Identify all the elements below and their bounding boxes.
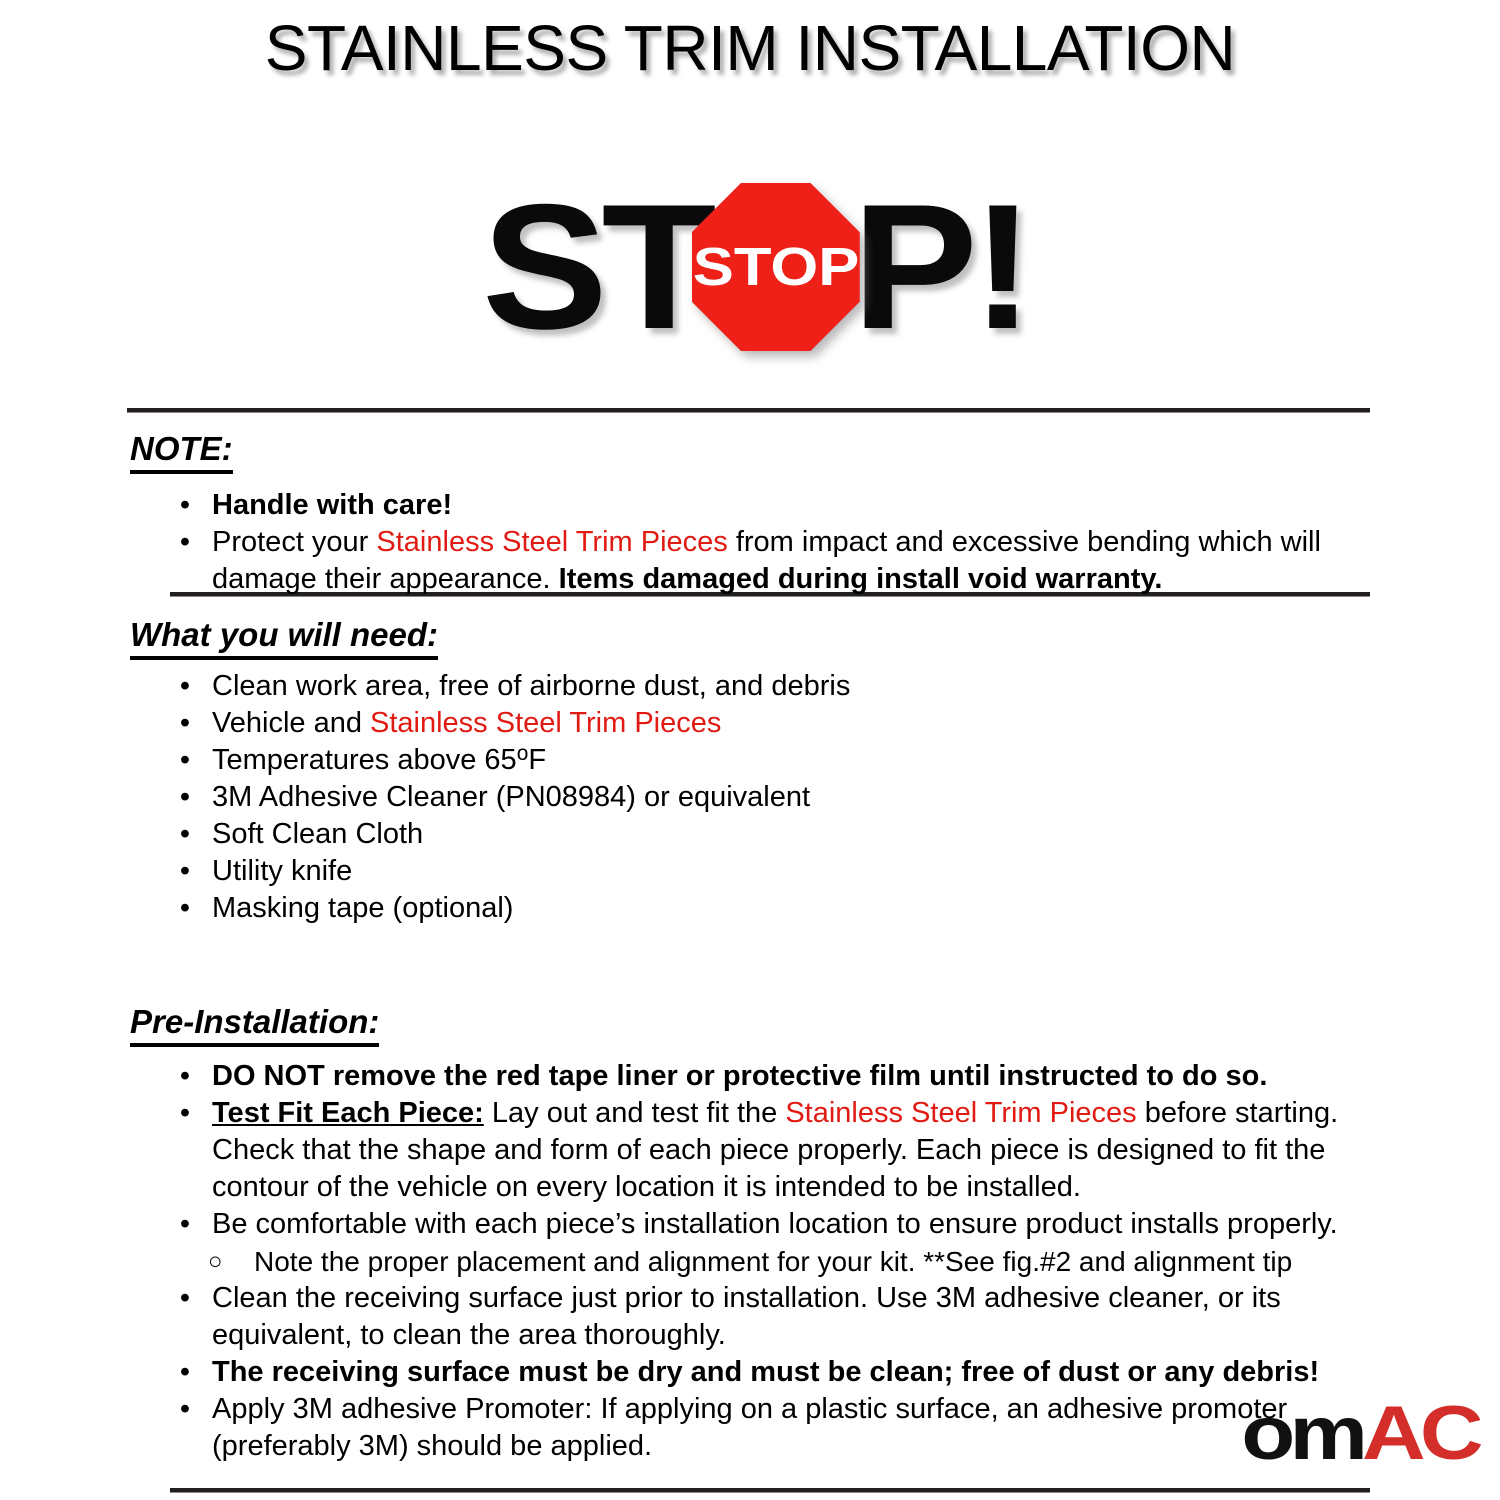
preinstall-list: •DO NOT remove the red tape liner or pro…	[170, 1058, 1370, 1465]
divider-top	[127, 408, 1370, 413]
omac-logo: omAC	[1242, 1396, 1478, 1472]
list-item: •3M Adhesive Cleaner (PN08984) or equiva…	[170, 779, 1370, 816]
divider-bottom	[170, 1488, 1370, 1493]
text-run: 3M Adhesive Cleaner (PN08984) or equival…	[212, 781, 810, 813]
stop-logo: ST STOP P!	[0, 172, 1500, 362]
bullet-icon: •	[178, 1095, 192, 1132]
bold-text: The receiving surface must be dry and mu…	[212, 1356, 1319, 1388]
list-item-text: Vehicle and Stainless Steel Trim Pieces	[212, 705, 1370, 742]
text-run: Clean the receiving surface just prior t…	[212, 1282, 1281, 1351]
list-item-text: Soft Clean Cloth	[212, 816, 1370, 853]
list-item: •Clean work area, free of airborne dust,…	[170, 668, 1370, 705]
text-run: Clean work area, free of airborne dust, …	[212, 670, 850, 702]
preinstall-heading-text: Pre-Installation:	[130, 1003, 379, 1047]
omac-logo-red-text: AC	[1362, 1391, 1478, 1476]
list-item: •DO NOT remove the red tape liner or pro…	[170, 1058, 1370, 1095]
bullet-icon: •	[178, 779, 192, 816]
list-item-text: Protect your Stainless Steel Trim Pieces…	[212, 524, 1370, 598]
list-item: •Test Fit Each Piece: Lay out and test f…	[170, 1095, 1370, 1206]
bullet-icon: •	[178, 524, 192, 561]
bullet-icon: •	[178, 1354, 192, 1391]
text-run: Note the proper placement and alignment …	[254, 1246, 1292, 1277]
note-list: •Handle with care!•Protect your Stainles…	[170, 487, 1370, 598]
text-run: Protect your	[212, 526, 376, 558]
sub-list: ○Note the proper placement and alignment…	[208, 1243, 1370, 1280]
list-item: •Be comfortable with each piece’s instal…	[170, 1206, 1370, 1243]
list-item: •Apply 3M adhesive Promoter: If applying…	[170, 1391, 1370, 1465]
bullet-icon: •	[178, 853, 192, 890]
omac-logo-dark-text: om	[1242, 1391, 1363, 1476]
text-run: Be comfortable with each piece’s install…	[212, 1208, 1338, 1240]
bold-text: Items damaged during install void warran…	[559, 563, 1163, 595]
stop-logo-left-text: ST	[482, 178, 710, 356]
needs-list: •Clean work area, free of airborne dust,…	[170, 668, 1370, 927]
degree-symbol: o	[517, 742, 529, 765]
bullet-icon: •	[178, 668, 192, 705]
list-item: •Clean the receiving surface just prior …	[170, 1280, 1370, 1354]
list-item-text: 3M Adhesive Cleaner (PN08984) or equival…	[212, 779, 1370, 816]
text-run: Masking tape (optional)	[212, 892, 513, 924]
list-item: •Handle with care!	[170, 487, 1370, 524]
needs-heading: What you will need:	[130, 616, 438, 660]
bullet-icon: •	[178, 742, 192, 779]
bullet-icon: •	[178, 705, 192, 742]
sub-list-item: ○Note the proper placement and alignment…	[208, 1243, 1370, 1280]
list-item: •Protect your Stainless Steel Trim Piece…	[170, 524, 1370, 598]
bullet-icon: •	[178, 1058, 192, 1095]
list-item-text: Apply 3M adhesive Promoter: If applying …	[212, 1391, 1370, 1465]
list-item-text: Handle with care!	[212, 487, 1370, 524]
text-run: Lay out and test fit the	[484, 1097, 785, 1129]
hollow-bullet-icon: ○	[208, 1243, 222, 1281]
stop-sign-icon: STOP	[692, 183, 860, 351]
text-run: Temperatures above 65	[212, 744, 517, 776]
list-item: •Soft Clean Cloth	[170, 816, 1370, 853]
list-item: •Temperatures above 65oF	[170, 742, 1370, 779]
highlight-text: Stainless Steel Trim Pieces	[785, 1097, 1136, 1129]
list-item-text: DO NOT remove the red tape liner or prot…	[212, 1058, 1370, 1095]
text-run: F	[528, 744, 546, 776]
list-item: •The receiving surface must be dry and m…	[170, 1354, 1370, 1391]
list-item: •Masking tape (optional)	[170, 890, 1370, 927]
highlight-text: Stainless Steel Trim Pieces	[376, 526, 727, 558]
list-item-text: Note the proper placement and alignment …	[254, 1243, 1370, 1280]
list-item-text: Clean work area, free of airborne dust, …	[212, 668, 1370, 705]
bold-underline-text: Test Fit Each Piece:	[212, 1097, 484, 1129]
bullet-icon: •	[178, 890, 192, 927]
stop-sign-label: STOP	[692, 240, 859, 294]
list-item: •Vehicle and Stainless Steel Trim Pieces	[170, 705, 1370, 742]
bullet-icon: •	[178, 816, 192, 853]
bullet-icon: •	[178, 487, 192, 524]
page-title: STAINLESS TRIM INSTALLATION	[0, 12, 1500, 86]
bullet-icon: •	[178, 1391, 192, 1428]
list-item-text: The receiving surface must be dry and mu…	[212, 1354, 1370, 1391]
text-run: Vehicle and	[212, 707, 370, 739]
list-item-text: Test Fit Each Piece: Lay out and test fi…	[212, 1095, 1370, 1206]
preinstall-heading: Pre-Installation:	[130, 1003, 379, 1047]
text-run: Apply 3M adhesive Promoter: If applying …	[212, 1393, 1287, 1462]
highlight-text: Stainless Steel Trim Pieces	[370, 707, 721, 739]
text-run: Utility knife	[212, 855, 352, 887]
list-item-text: Utility knife	[212, 853, 1370, 890]
list-item-text: Masking tape (optional)	[212, 890, 1370, 927]
list-item-text: Clean the receiving surface just prior t…	[212, 1280, 1370, 1354]
text-run: Soft Clean Cloth	[212, 818, 423, 850]
bold-text: Handle with care!	[212, 489, 452, 521]
note-heading-text: NOTE:	[130, 430, 233, 474]
note-heading: NOTE:	[130, 430, 233, 474]
installation-instruction-page: STAINLESS TRIM INSTALLATION ST STOP P! N…	[0, 0, 1500, 1500]
bold-text: DO NOT remove the red tape liner or prot…	[212, 1060, 1267, 1092]
list-item: •Utility knife	[170, 853, 1370, 890]
stop-logo-right-text: P!	[852, 178, 1028, 356]
bullet-icon: •	[178, 1280, 192, 1317]
list-item-text: Be comfortable with each piece’s install…	[212, 1206, 1370, 1243]
bullet-icon: •	[178, 1206, 192, 1243]
needs-heading-text: What you will need:	[130, 616, 438, 660]
list-item-text: Temperatures above 65oF	[212, 742, 1370, 779]
